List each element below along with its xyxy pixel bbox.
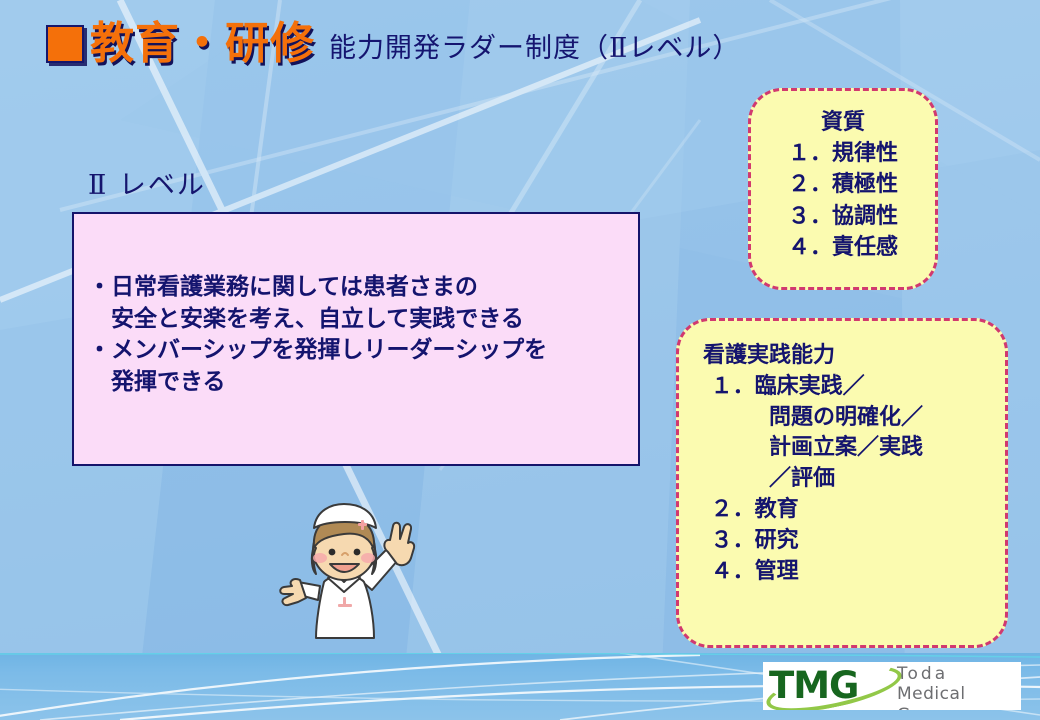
logo-toda-text: Toda bbox=[897, 664, 948, 685]
nurse-illustration bbox=[262, 494, 422, 650]
callout-shitsu-text: 資質 １．規律性 ２．積極性 ３．協調性 ４．責任感 bbox=[751, 107, 935, 263]
callout-kango-text: 看護実践能力 １．臨床実践／ 問題の明確化／ 計画立案／実践 ／評価 ２．教育 … bbox=[703, 341, 997, 587]
orange-square-bullet-icon bbox=[46, 25, 84, 63]
callout-shitsu: 資質 １．規律性 ２．積極性 ３．協調性 ４．責任感 bbox=[748, 88, 938, 290]
page-title: 教育・研修 能力開発ラダー制度（Ⅱレベル） bbox=[46, 22, 740, 70]
title-sub-text: 能力開発ラダー制度（Ⅱレベル） bbox=[329, 35, 740, 62]
logo-mark-text: TMG bbox=[769, 664, 858, 708]
callout-kango-jissen-nouryoku: 看護実践能力 １．臨床実践／ 問題の明確化／ 計画立案／実践 ／評価 ２．教育 … bbox=[676, 318, 1008, 648]
logo-medical-group-text: Medical Group bbox=[897, 684, 1021, 710]
level-label: Ⅱ レベル bbox=[88, 163, 206, 202]
slide-canvas: 教育・研修 能力開発ラダー制度（Ⅱレベル） Ⅱ レベル ・日常看護業務に関しては… bbox=[0, 0, 1040, 720]
description-box: ・日常看護業務に関しては患者さまの 安全と安楽を考え、自立して実践できる ・メン… bbox=[72, 212, 640, 466]
tmg-logo: TMG Toda Medical Group bbox=[763, 662, 1021, 710]
title-main-text: 教育・研修 bbox=[90, 22, 315, 66]
description-box-text: ・日常看護業務に関しては患者さまの 安全と安楽を考え、自立して実践できる ・メン… bbox=[88, 272, 630, 399]
